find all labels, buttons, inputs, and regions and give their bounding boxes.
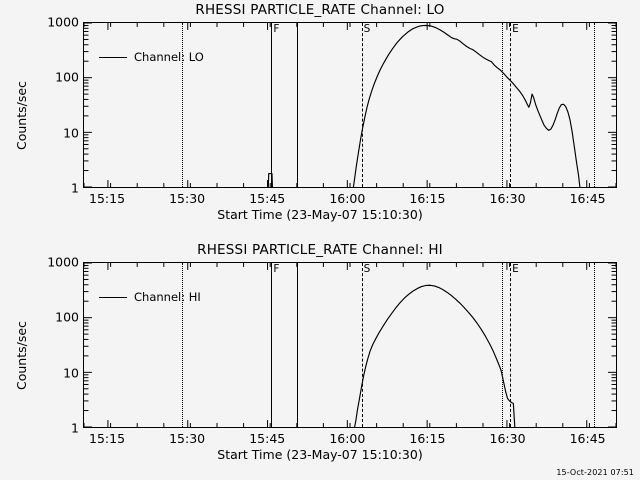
data-curve-hi — [84, 263, 617, 428]
x-tick-label: 16:30 — [490, 191, 526, 206]
y-tick-label: 1000 — [47, 15, 79, 30]
render-timestamp: 15-Oct-2021 07:51 — [556, 468, 634, 477]
x-axis-title-lo: Start Time (23-May-07 15:10:30) — [0, 207, 640, 222]
panel-title-hi: RHESSI PARTICLE_RATE Channel: HI — [0, 242, 640, 258]
x-tick-label: 15:15 — [89, 191, 125, 206]
y-axis-tick-labels-lo: 1101001000 — [0, 22, 79, 188]
x-tick-label: 16:45 — [570, 191, 606, 206]
y-tick-label: 10 — [63, 125, 79, 140]
x-tick-label: 15:45 — [249, 191, 285, 206]
series-polyline — [267, 25, 580, 188]
panel-title-lo: RHESSI PARTICLE_RATE Channel: LO — [0, 2, 640, 18]
series-polyline — [354, 285, 515, 428]
y-tick-label: 1000 — [47, 255, 79, 270]
y-tick-label: 10 — [63, 365, 79, 380]
data-curve-lo — [84, 23, 617, 188]
legend-label-lo: Channel: LO — [134, 50, 204, 64]
y-axis-title-lo: Counts/sec — [14, 81, 29, 150]
x-tick-label: 16:15 — [409, 431, 445, 446]
x-tick-label: 15:15 — [89, 431, 125, 446]
x-tick-label: 16:45 — [570, 431, 606, 446]
legend-line-sample-lo — [99, 57, 127, 58]
panel-channel-hi: RHESSI PARTICLE_RATE Channel: HI 1101001… — [0, 240, 640, 480]
x-axis-title-hi: Start Time (23-May-07 15:10:30) — [0, 447, 640, 462]
plot-area-hi: FSE — [83, 262, 617, 428]
y-tick-label: 100 — [55, 310, 79, 325]
x-tick-label: 15:30 — [169, 431, 205, 446]
legend-hi: Channel: HI — [99, 290, 201, 304]
rhessi-particle-rate-figure: RHESSI PARTICLE_RATE Channel: LO 1101001… — [0, 0, 640, 480]
plot-area-lo: FSE — [83, 22, 617, 188]
y-axis-tick-labels-hi: 1101001000 — [0, 262, 79, 428]
x-axis-tick-labels-hi: 15:1515:3015:4516:0016:1516:3016:45 — [0, 431, 640, 447]
x-tick-label: 16:00 — [329, 431, 365, 446]
y-tick-label: 100 — [55, 70, 79, 85]
panel-channel-lo: RHESSI PARTICLE_RATE Channel: LO 1101001… — [0, 0, 640, 240]
y-axis-title-hi: Counts/sec — [14, 321, 29, 390]
legend-line-sample-hi — [99, 297, 127, 298]
legend-lo: Channel: LO — [99, 50, 204, 64]
x-tick-label: 16:15 — [409, 191, 445, 206]
x-axis-tick-labels-lo: 15:1515:3015:4516:0016:1516:3016:45 — [0, 191, 640, 207]
x-tick-label: 16:00 — [329, 191, 365, 206]
x-tick-label: 15:30 — [169, 191, 205, 206]
x-tick-label: 15:45 — [249, 431, 285, 446]
x-tick-label: 16:30 — [490, 431, 526, 446]
legend-label-hi: Channel: HI — [134, 290, 201, 304]
